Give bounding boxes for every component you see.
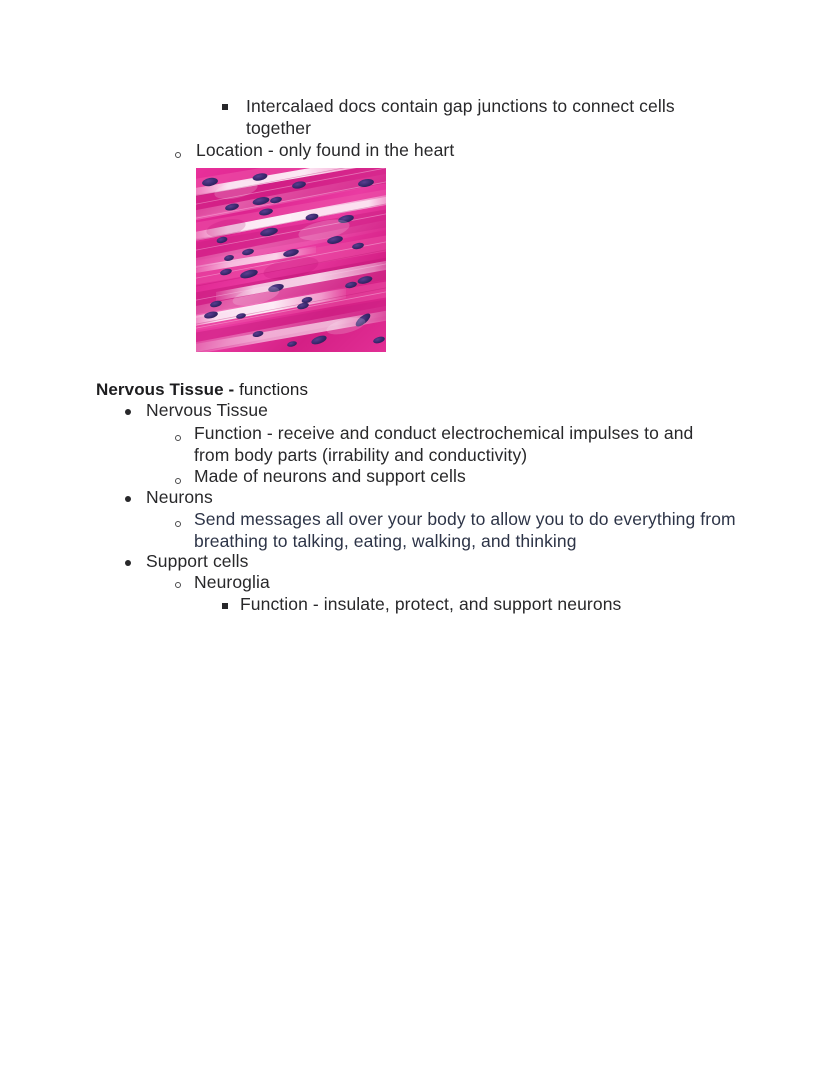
heading-bold-part: Nervous Tissue - (96, 380, 239, 399)
list-item-location-heart: Location - only found in the heart (196, 140, 716, 162)
list-item-intercalated-discs: Intercalaed docs contain gap junctions t… (246, 96, 726, 139)
disc-bullet-icon (125, 560, 131, 566)
hollow-circle-bullet-icon (175, 152, 181, 158)
list-item-neuroglia: Neuroglia (194, 572, 714, 594)
list-item-support-cells: Support cells (146, 551, 666, 573)
cardiac-muscle-micrograph-image (196, 168, 386, 352)
square-bullet-icon (222, 104, 228, 110)
hollow-circle-bullet-icon (175, 435, 181, 441)
list-item-nervous-tissue-function: Function - receive and conduct electroch… (194, 423, 706, 466)
hollow-circle-bullet-icon (175, 521, 181, 527)
heading-regular-part: functions (239, 380, 308, 399)
hollow-circle-bullet-icon (175, 478, 181, 484)
page-section-heading: Nervous Tissue - functions (96, 379, 308, 400)
list-item-neurons-send-messages: Send messages all over your body to allo… (194, 509, 739, 552)
disc-bullet-icon (125, 496, 131, 502)
list-item-nervous-tissue: Nervous Tissue (146, 400, 666, 422)
disc-bullet-icon (125, 409, 131, 415)
list-item-neurons: Neurons (146, 487, 666, 509)
hollow-circle-bullet-icon (175, 582, 181, 588)
list-item-made-of-neurons: Made of neurons and support cells (194, 466, 714, 488)
square-bullet-icon (222, 603, 228, 609)
document-page: Intercalaed docs contain gap junctions t… (0, 0, 828, 1071)
list-item-neuroglia-function: Function - insulate, protect, and suppor… (240, 594, 760, 616)
